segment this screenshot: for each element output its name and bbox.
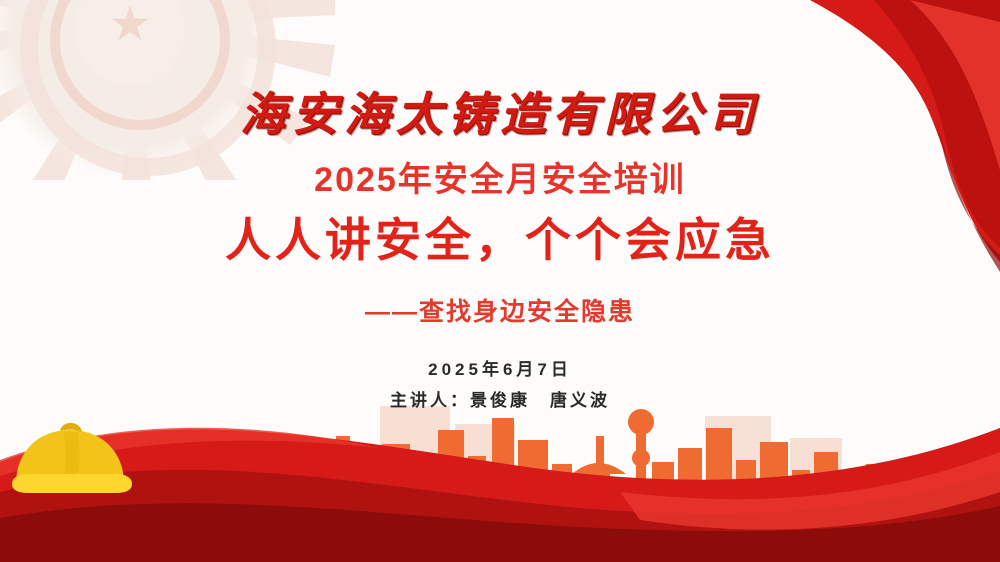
speaker-label: 主讲人：景俊康 唐义波: [0, 386, 1000, 411]
subtitle: 2025年安全月安全培训: [0, 152, 1000, 201]
slide-text-content: 海安海太铸造有限公司 2025年安全月安全培训 人人讲安全，个个会应急 ——查找…: [0, 0, 1000, 562]
note-line: ——查找身边安全隐患: [0, 292, 1000, 328]
date-label: 2025年6月7日: [0, 355, 1000, 380]
page-title: 海安海太铸造有限公司: [0, 78, 1000, 144]
slogan: 人人讲安全，个个会应急: [0, 204, 1000, 270]
presentation-title-slide: ★: [0, 0, 1000, 562]
